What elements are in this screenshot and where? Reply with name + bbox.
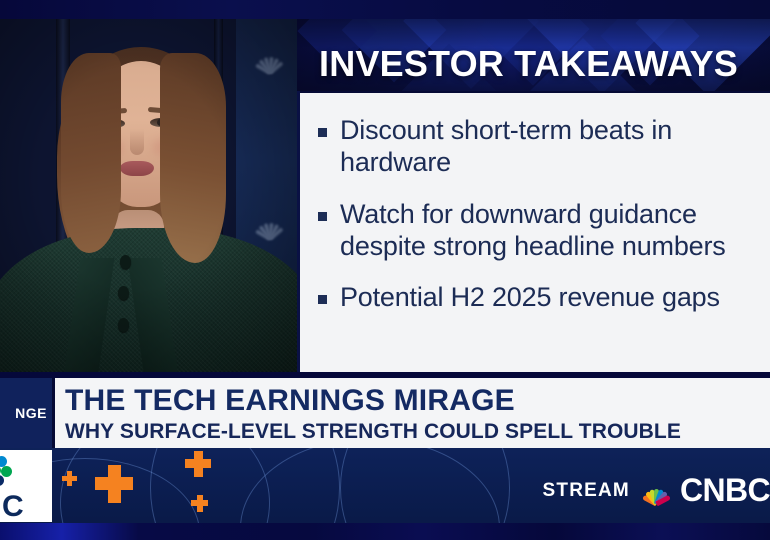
- bottom-band: [0, 523, 770, 540]
- jacket-button-3: [118, 318, 129, 332]
- peacock-logo-icon: [641, 477, 671, 505]
- cnbc-corner-letter: C: [2, 490, 24, 522]
- list-item: Discount short-term beats in hardware: [318, 115, 770, 179]
- anchor-hair-right: [160, 53, 226, 263]
- cnbc-wordmark: CNBC: [680, 472, 770, 509]
- peacock-feather: [0, 475, 4, 486]
- anchor-jacket: [0, 228, 297, 372]
- decor-arc: [340, 448, 510, 523]
- plus-decoration-icon: [191, 500, 208, 506]
- peacock-feather: [1, 466, 12, 477]
- stream-label: STREAM: [543, 480, 630, 502]
- plus-decoration-icon: [185, 459, 211, 468]
- bullet-square-icon: [318, 295, 327, 304]
- stream-branding: STREAM CNBC: [543, 472, 770, 509]
- plus-decoration-icon: [95, 477, 133, 490]
- broadcast-frame: INVESTOR TAKEAWAYS Discount short-term b…: [0, 0, 770, 540]
- list-item: Potential H2 2025 revenue gaps: [318, 282, 770, 314]
- jacket-button-1: [120, 255, 131, 269]
- list-item-label: Potential H2 2025 revenue gaps: [340, 282, 720, 314]
- list-item-label: Watch for downward guidance despite stro…: [340, 199, 726, 263]
- takeaways-panel: Discount short-term beats in hardware Wa…: [300, 93, 770, 372]
- anchor-figure: [0, 19, 297, 372]
- headline: THE TECH EARNINGS MIRAGE: [65, 384, 515, 418]
- show-bug: NGE: [0, 378, 52, 448]
- cnbc-corner-logo: C: [0, 450, 52, 522]
- plus-decoration-icon: [62, 476, 77, 481]
- anchor-nose: [130, 129, 144, 155]
- bullet-square-icon: [318, 212, 327, 221]
- bullet-square-icon: [318, 128, 327, 137]
- anchor-video-panel: [0, 19, 297, 372]
- list-item: Watch for downward guidance despite stro…: [318, 199, 770, 263]
- graphic-header: INVESTOR TAKEAWAYS: [297, 19, 770, 91]
- anchor-hair-left: [61, 53, 121, 253]
- top-strip: [0, 0, 770, 19]
- jacket-button-2: [118, 286, 129, 300]
- anchor-lips: [120, 161, 154, 176]
- show-bug-label: NGE: [15, 405, 52, 421]
- takeaways-list: Discount short-term beats in hardware Wa…: [318, 115, 770, 334]
- graphic-title: INVESTOR TAKEAWAYS: [319, 43, 738, 85]
- list-item-label: Discount short-term beats in hardware: [340, 115, 672, 179]
- peacock-corner-icon: [0, 456, 24, 486]
- subheadline: WHY SURFACE-LEVEL STRENGTH COULD SPELL T…: [65, 420, 681, 444]
- lower-third-banner: THE TECH EARNINGS MIRAGE WHY SURFACE-LEV…: [55, 378, 770, 448]
